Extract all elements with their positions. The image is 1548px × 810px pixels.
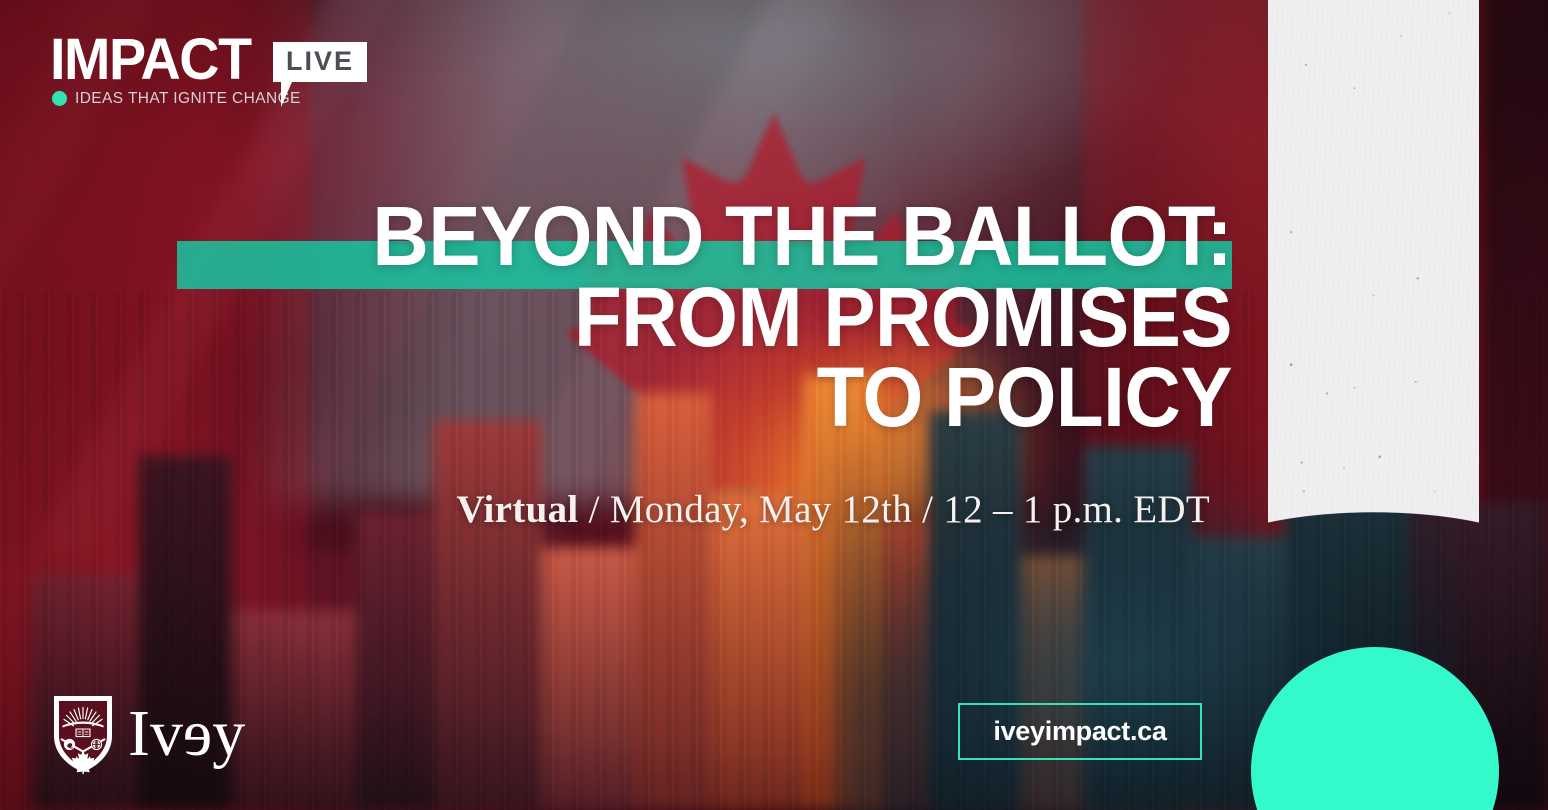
teal-dot-icon xyxy=(52,91,67,106)
ivey-shield-crest-icon xyxy=(52,694,114,774)
ivey-logo[interactable]: Ivey xyxy=(52,694,245,774)
tagline-text: IDEAS THAT IGNITE CHANGE xyxy=(75,90,301,108)
impact-live-logo[interactable]: IMPACT LIVE IDEAS THAT IGNITE CHANGE xyxy=(50,36,367,108)
event-date: Monday, May 12th xyxy=(610,488,912,531)
panel-paper-texture xyxy=(1268,0,1479,572)
detail-separator-1: / xyxy=(579,488,610,531)
logo-top-row: IMPACT LIVE xyxy=(50,36,367,84)
event-format: Virtual xyxy=(457,488,579,531)
live-badge-label: LIVE xyxy=(286,46,354,76)
ivey-wordmark: Ivey xyxy=(128,704,245,763)
logo-wordmark: IMPACT xyxy=(50,36,251,84)
headline-line-3: TO POLICY xyxy=(86,357,1232,438)
live-badge: LIVE xyxy=(273,42,367,82)
logo-tagline: IDEAS THAT IGNITE CHANGE xyxy=(52,90,367,108)
decorative-white-panel xyxy=(1268,0,1479,572)
website-url-label: iveyimpact.ca xyxy=(993,716,1166,747)
event-time: 12 – 1 p.m. EDT xyxy=(943,488,1210,531)
page-title: BEYOND THE BALLOT: FROM PROMISES TO POLI… xyxy=(0,196,1232,438)
headline-line-1: BEYOND THE BALLOT: xyxy=(86,196,1232,277)
ivey-wordmark-text: Ivey xyxy=(128,704,245,763)
detail-separator-2: / xyxy=(912,488,943,531)
event-promo-graphic: IMPACT LIVE IDEAS THAT IGNITE CHANGE BEY… xyxy=(0,0,1548,810)
event-details: Virtual / Monday, May 12th / 12 – 1 p.m.… xyxy=(0,487,1210,532)
website-url-button[interactable]: iveyimpact.ca xyxy=(958,703,1202,760)
headline-line-1-wrapper: BEYOND THE BALLOT: xyxy=(0,196,1232,277)
headline-line-2: FROM PROMISES xyxy=(86,277,1232,358)
